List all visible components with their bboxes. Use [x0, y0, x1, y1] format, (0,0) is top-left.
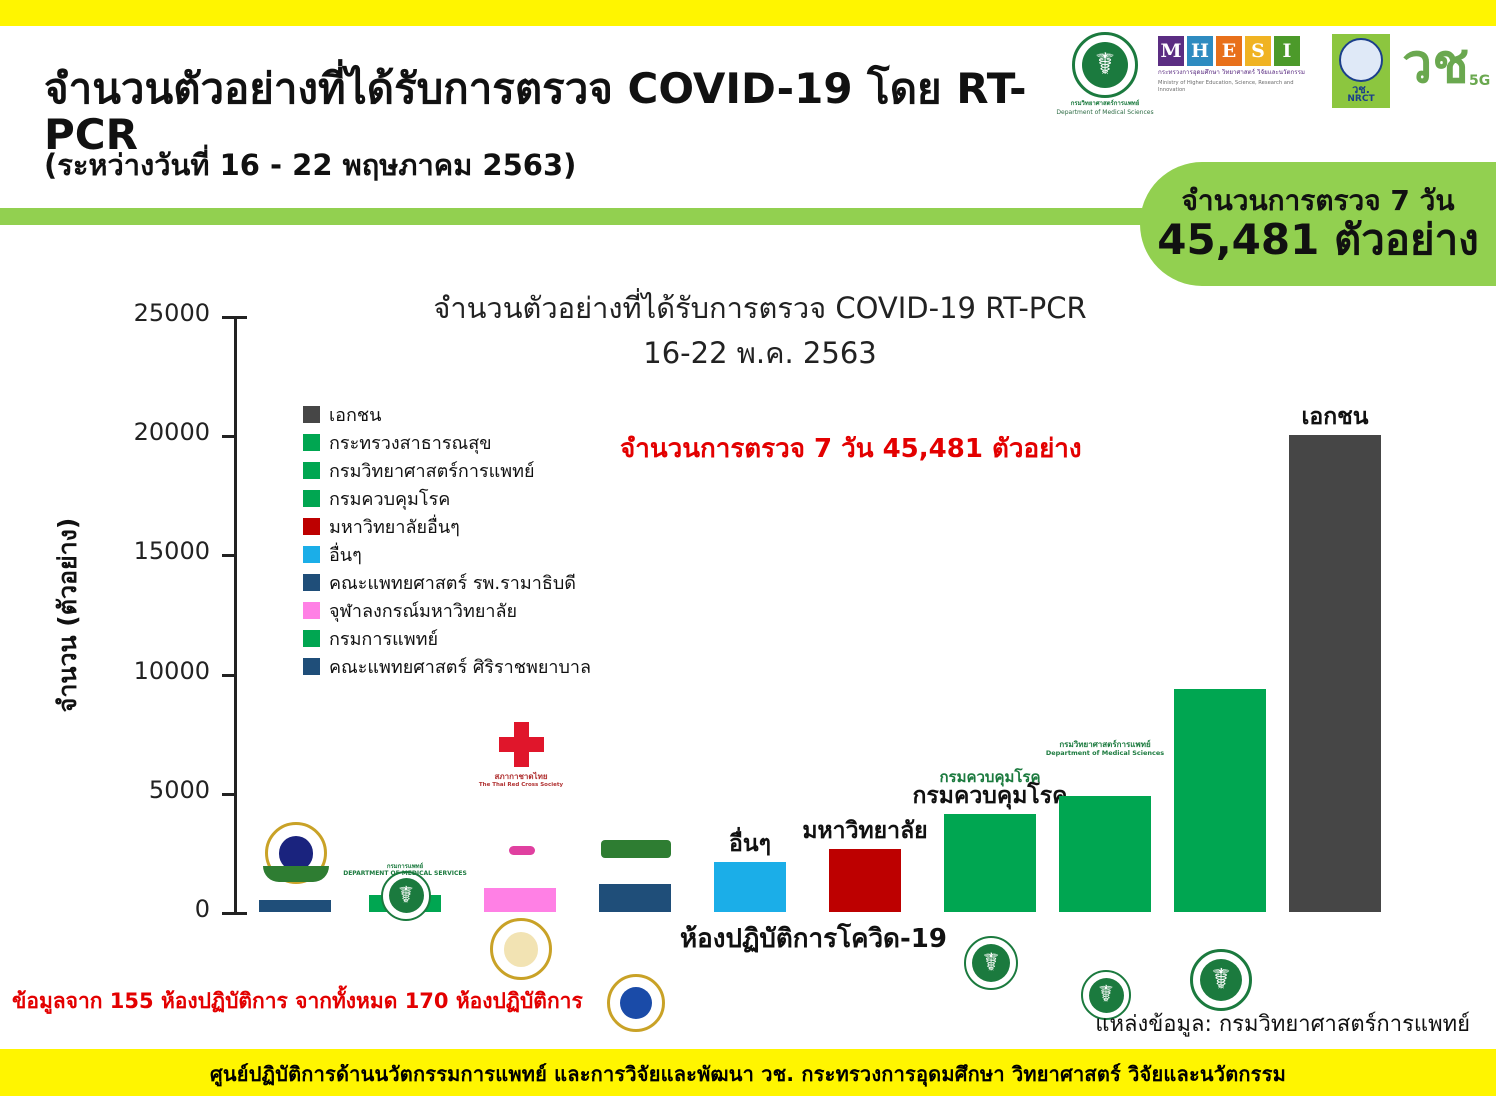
chart-plot-area: อื่นๆมหาวิทยาลัยกรมควบคุมโรคเอกชน☤กรมการ… — [234, 316, 1434, 912]
nrct-label-en: NRCT — [1347, 95, 1374, 105]
bar-7[interactable] — [1059, 796, 1151, 912]
bar-0[interactable] — [259, 900, 331, 912]
y-axis-label: จำนวน (ตัวอย่าง) — [48, 485, 88, 745]
y-tick-label: 10000 — [100, 657, 210, 685]
green-divider-band — [0, 208, 1245, 225]
dms-caption-en: Department of Medical Sciences — [1025, 750, 1185, 758]
bar-2[interactable] — [484, 888, 556, 912]
mhesi-letter-row: M H E S I — [1158, 36, 1320, 66]
university-seal-icon — [607, 974, 665, 1032]
moph-logo-caption-en: Department of Medical Sciences — [1035, 109, 1175, 117]
wch-wordmark: วช — [1402, 40, 1469, 89]
bar-emblem-caption-kromkuabkum: กรมควบคุมโรค — [910, 768, 1070, 786]
mhesi-letter-i: I — [1274, 36, 1300, 66]
wch-5g-badge: 5G — [1469, 73, 1490, 89]
moph-seal-icon: ☤ — [381, 871, 431, 921]
nrct-label-th: วช. — [1352, 84, 1370, 95]
mhesi-letter-e: E — [1216, 36, 1242, 66]
mhesi-caption-en: Ministry of Higher Education, Science, R… — [1158, 80, 1320, 94]
bar-label: มหาวิทยาลัย — [755, 813, 975, 849]
moph-logo-caption-th: กรมวิทยาศาสตร์การแพทย์ — [1035, 100, 1175, 108]
x-axis-label: ห้องปฏิบัติการโควิด-19 — [680, 918, 947, 959]
mhesi-letter-m: M — [1158, 36, 1184, 66]
bar-8[interactable] — [1174, 689, 1266, 912]
bar-9[interactable] — [1289, 435, 1381, 912]
redcross-caption: สภากาชาดไทยThe Thai Red Cross Society — [441, 772, 601, 788]
red-cross-icon-bar — [499, 737, 544, 752]
caduceus-icon: ☤ — [1211, 966, 1230, 995]
moph-seal-icon: ☤ — [1190, 949, 1252, 1011]
page-subtitle: (ระหว่างวันที่ 16 - 22 พฤษภาคม 2563) — [44, 142, 864, 188]
bar-emblem-caption-dms: กรมวิทยาศาสตร์การแพทย์Department of Medi… — [1025, 740, 1185, 757]
caduceus-icon: ☤ — [398, 884, 413, 907]
badge-line-1: จำนวนการตรวจ 7 วัน — [1181, 185, 1454, 217]
university-seal-icon — [490, 918, 552, 980]
caduceus-icon: ☤ — [1098, 984, 1113, 1007]
caduceus-icon: ☤ — [983, 951, 1000, 976]
footer-text: ศูนย์ปฏิบัติการด้านนวัตกรรมการแพทย์ และก… — [0, 1058, 1496, 1090]
top-accent-bar — [0, 0, 1496, 26]
mhesi-letter-h: H — [1187, 36, 1213, 66]
y-tick-label: 15000 — [100, 537, 210, 565]
wch-5g-logo: วช 5G — [1402, 40, 1490, 89]
bar-6[interactable] — [944, 814, 1036, 912]
crown-icon — [509, 846, 535, 855]
nrct-emblem-icon — [1339, 38, 1383, 82]
emblem-caption-th: กรมการแพทย์ — [325, 863, 485, 870]
y-tick-label: 0 — [100, 895, 210, 923]
nrct-logo: วช. NRCT — [1332, 34, 1390, 108]
seven-day-total-badge: จำนวนการตรวจ 7 วัน 45,481 ตัวอย่าง — [1140, 162, 1496, 286]
mhesi-caption-th: กระทรวงการอุดมศึกษา วิทยาศาสตร์ วิจัยและ… — [1158, 69, 1320, 77]
moph-seal-icon: ☤ — [1072, 32, 1138, 98]
mhesi-letter-s: S — [1245, 36, 1271, 66]
redcross-caption-th: สภากาชาดไทย — [441, 772, 601, 782]
emblem-caption-en: DEPARTMENT OF MEDICAL SERVICES — [325, 870, 485, 877]
y-tick-label: 25000 — [100, 299, 210, 327]
lab-count-note: ข้อมูลจาก 155 ห้องปฏิบัติการ จากทั้งหมด … — [12, 985, 583, 1018]
ribbon-icon — [601, 840, 671, 858]
badge-line-2: 45,481 ตัวอย่าง — [1157, 217, 1478, 263]
bar-emblem-caption: กรมการแพทย์DEPARTMENT OF MEDICAL SERVICE… — [325, 863, 485, 877]
logo-strip: ☤ กรมวิทยาศาสตร์การแพทย์ Department of M… — [1062, 26, 1496, 126]
axis-cap — [234, 912, 247, 915]
ribbon-icon — [263, 866, 329, 882]
bar-label: เอกชน — [1225, 399, 1445, 435]
y-tick-label: 20000 — [100, 418, 210, 446]
moph-seal-icon: ☤ — [964, 936, 1018, 990]
bar-5[interactable] — [829, 849, 901, 912]
mhesi-logo: M H E S I กระทรวงการอุดมศึกษา วิทยาศาสตร… — [1158, 36, 1320, 94]
data-source-note: แหล่งข้อมูล: กรมวิทยาศาสตร์การแพทย์ — [1000, 1006, 1470, 1041]
department-of-medical-sciences-logo: ☤ กรมวิทยาศาสตร์การแพทย์ Department of M… — [1072, 32, 1138, 98]
bar-3[interactable] — [599, 884, 671, 912]
y-tick-label: 5000 — [100, 776, 210, 804]
bar-4[interactable] — [714, 862, 786, 912]
redcross-caption-en: The Thai Red Cross Society — [441, 782, 601, 789]
